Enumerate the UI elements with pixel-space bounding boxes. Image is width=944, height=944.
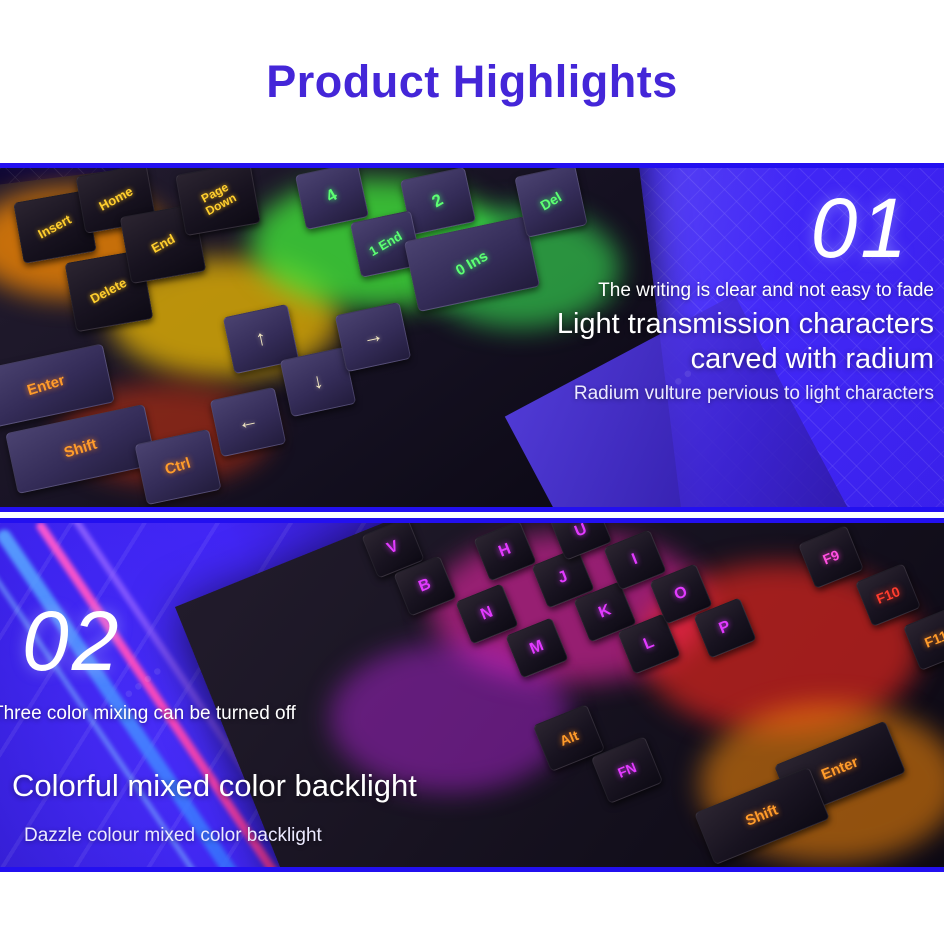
keycap-label: L [641,634,656,653]
keycap-label: P [717,618,733,638]
panel-subline-02: Dazzle colour mixed color backlight [24,825,322,847]
highlight-panel-02: V B N M H J K L U I O P F9 F10 F11 Alt F… [0,518,944,872]
highlight-panel-01: Insert Home Delete End Page Down 4 2 1 [0,163,944,512]
keycap-label: I [630,551,640,568]
arrow-left-icon: ← [235,409,260,435]
keycap-label: Home [97,184,135,213]
keycap-label: 1 End [367,229,404,259]
panel-number-02: 02 [22,599,121,683]
keycap-label: 0 Ins [453,249,490,280]
keycap-label: Ctrl [163,456,192,479]
keycap-page-down: Page Down [175,163,261,236]
panel-subline-01: Radium vulture pervious to light charact… [574,383,934,405]
keycap-label: Del [538,189,564,213]
keycap-label: Shift [744,802,781,829]
keycap-label: Shift [63,437,99,462]
keycap-label: O [672,584,690,604]
keycap-label: 2 [429,191,446,211]
panel-headline1-02: Colorful mixed color backlight [12,769,417,804]
keycap-label: B [416,576,433,596]
keycap-label: Alt [558,728,581,749]
keycap-label: FN [616,760,639,781]
keycap-numpad-del: Del [514,164,588,238]
keycap-label: U [572,521,589,541]
keycap-label: Enter [25,373,66,399]
keycap-label: V [385,538,401,558]
panel-tagline-02: Three color mixing can be turned off [0,703,296,725]
panel-headline2-01: carved with radium [691,343,934,375]
keycap-label: End [149,232,177,256]
page-header: Product Highlights [0,0,944,163]
keycap-label: H [496,541,513,561]
product-highlights-page: Product Highlights Insert Home [0,0,944,944]
keycap-label: Delete [89,276,130,306]
keycap-label: K [596,602,613,622]
arrow-up-icon: ↑ [254,327,269,351]
keycap-label: F10 [874,584,902,607]
panel-number-01: 01 [811,186,910,270]
keycap-label: F9 [821,547,842,567]
panel-tagline-01: The writing is clear and not easy to fad… [598,280,934,302]
keycap-label: 4 [323,186,340,206]
keycap-label: Insert [36,213,74,242]
keycap-label: J [556,569,571,588]
keycap-label: Page Down [190,176,246,222]
arrow-down-icon: ↓ [311,370,326,394]
arrow-right-icon: → [360,324,385,350]
keyboard-photo-02: V B N M H J K L U I O P F9 F10 F11 Alt F… [0,523,944,867]
keycap-label: Enter [819,755,860,784]
page-title: Product Highlights [266,59,677,104]
keycap-label: F11 [922,628,944,650]
panel-headline1-01: Light transmission characters [557,308,934,340]
keycap-label: N [478,604,495,624]
keycap-label: M [528,638,547,659]
